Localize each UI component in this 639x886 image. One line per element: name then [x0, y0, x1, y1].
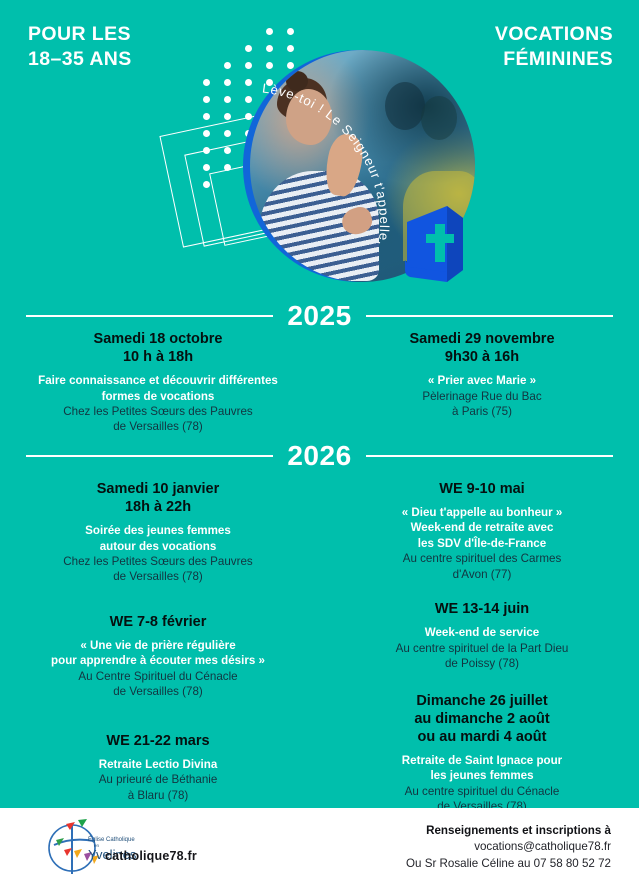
decorative-dot	[203, 113, 210, 120]
contact-block: Renseignements et inscriptions à vocatio…	[406, 823, 611, 872]
event-date: Samedi 29 novembre 9h30 à 16h	[332, 330, 632, 366]
event-title: Soirée des jeunes femmes autour des voca…	[8, 523, 308, 554]
event-place: Chez les Petites Sœurs des Pauvres de Ve…	[8, 554, 308, 585]
event-card: Samedi 18 octobre 10 h à 18h Faire conna…	[8, 330, 308, 435]
divider-line-right	[366, 455, 613, 456]
event-title: Retraite Lectio Divina	[8, 757, 308, 772]
event-date: Samedi 10 janvier 18h à 22h	[8, 480, 308, 516]
event-place: Au centre spirituel de la Part Dieu de P…	[332, 641, 632, 672]
background-figure-2	[421, 96, 457, 140]
decorative-dot	[266, 28, 273, 35]
header-right-title: VOCATIONS FÉMININES	[495, 22, 613, 71]
event-place: Pèlerinage Rue du Bac à Paris (75)	[332, 389, 632, 420]
event-date: WE 7-8 février	[8, 613, 308, 631]
year-label-2025: 2025	[287, 302, 351, 330]
event-card: WE 7-8 février « Une vie de prière régul…	[8, 613, 308, 700]
bible-cross-icon	[397, 202, 469, 286]
year-label-2026: 2026	[287, 442, 351, 470]
contact-email[interactable]: vocations@catholique78.fr	[406, 839, 611, 855]
decorative-dot	[224, 96, 231, 103]
events-2025-left-column: Samedi 18 octobre 10 h à 18h Faire conna…	[8, 330, 308, 447]
year-divider-2025: 2025	[26, 302, 613, 330]
figure-head	[286, 89, 332, 145]
decorative-dot	[266, 45, 273, 52]
event-card: Dimanche 26 juillet au dimanche 2 août o…	[332, 692, 632, 815]
event-card: WE 9-10 mai « Dieu t'appelle au bonheur …	[332, 480, 632, 582]
events-2025-right-column: Samedi 29 novembre 9h30 à 16h « Prier av…	[332, 330, 632, 432]
figure-hair-bun	[286, 71, 308, 91]
header-left-title: POUR LES 18–35 ANS	[28, 22, 132, 71]
year-divider-2026: 2026	[26, 442, 613, 470]
events-2026-left-column: Samedi 10 janvier 18h à 22h Soirée des j…	[8, 480, 308, 815]
hero-graphic: Lève-toi ! Le Seigneur t'appelle.	[175, 28, 475, 290]
logo-line1: Église Catholique	[88, 836, 135, 843]
decorative-dot	[245, 62, 252, 69]
website-label[interactable]: catholique78.fr	[105, 849, 197, 863]
event-date: WE 13-14 juin	[332, 600, 632, 618]
decorative-dot	[203, 96, 210, 103]
event-title: « Dieu t'appelle au bonheur » Week-end d…	[332, 505, 632, 551]
decorative-dot	[287, 62, 294, 69]
background-figure-1	[385, 82, 425, 130]
contact-title: Renseignements et inscriptions à	[406, 823, 611, 839]
event-date: Samedi 18 octobre 10 h à 18h	[8, 330, 308, 366]
eglise-catholique-yvelines-logo: Église Catholique en Yvelines	[42, 818, 146, 876]
event-title: « Une vie de prière régulière pour appre…	[8, 638, 308, 669]
event-place: Au prieuré de Béthanie à Blaru (78)	[8, 772, 308, 803]
decorative-dot	[203, 79, 210, 86]
poster-root: POUR LES 18–35 ANS VOCATIONS FÉMININES	[0, 0, 639, 886]
footer: Église Catholique en Yvelines catholique…	[0, 808, 639, 886]
decorative-dot	[266, 62, 273, 69]
decorative-dot	[245, 45, 252, 52]
event-date: WE 21-22 mars	[8, 732, 308, 750]
contact-phone[interactable]: Ou Sr Rosalie Céline au 07 58 80 52 72	[406, 856, 611, 872]
event-place: Chez les Petites Sœurs des Pauvres de Ve…	[8, 404, 308, 435]
decorative-dot	[266, 79, 273, 86]
decorative-dot	[245, 79, 252, 86]
decorative-dot	[224, 62, 231, 69]
event-date: WE 9-10 mai	[332, 480, 632, 498]
event-title: Faire connaissance et découvrir différen…	[8, 373, 308, 404]
decorative-dot	[287, 45, 294, 52]
decorative-dot	[245, 96, 252, 103]
event-place: Au centre spirituel des Carmes d'Avon (7…	[332, 551, 632, 582]
event-date: Dimanche 26 juillet au dimanche 2 août o…	[332, 692, 632, 746]
divider-line-left	[26, 455, 273, 456]
events-2026-right-column: WE 9-10 mai « Dieu t'appelle au bonheur …	[332, 480, 632, 827]
event-card: Samedi 29 novembre 9h30 à 16h « Prier av…	[332, 330, 632, 420]
decorative-dot	[224, 79, 231, 86]
event-card: WE 21-22 mars Retraite Lectio Divina Au …	[8, 732, 308, 803]
decorative-dot	[224, 113, 231, 120]
divider-line-left	[26, 315, 273, 316]
event-title: « Prier avec Marie »	[332, 373, 632, 388]
event-title: Week-end de service	[332, 625, 632, 640]
event-title: Retraite de Saint Ignace pour les jeunes…	[332, 753, 632, 784]
divider-line-right	[366, 315, 613, 316]
event-card: Samedi 10 janvier 18h à 22h Soirée des j…	[8, 480, 308, 585]
event-card: WE 13-14 juin Week-end de service Au cen…	[332, 600, 632, 671]
event-place: Au Centre Spirituel du Cénacle de Versai…	[8, 669, 308, 700]
decorative-dot	[287, 28, 294, 35]
